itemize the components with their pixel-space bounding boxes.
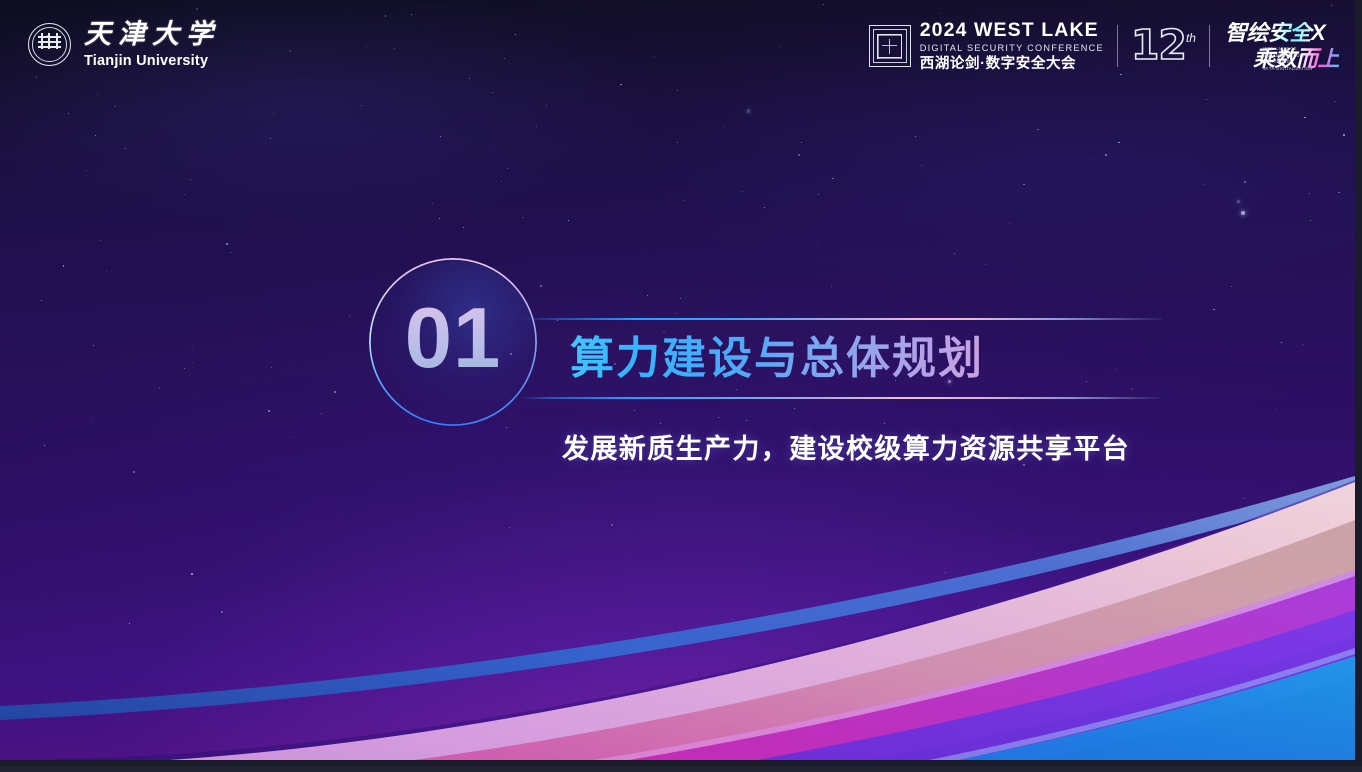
- slide-root: 天津大学 Tianjin University 2024 WEST LAKE D…: [0, 0, 1355, 760]
- section-number: 01: [369, 258, 537, 426]
- slide-bottom-border: [0, 766, 1362, 772]
- title-rule-bottom: [522, 397, 1162, 399]
- section-title: 算力建设与总体规划: [522, 320, 1162, 396]
- section-title-block: 算力建设与总体规划: [522, 318, 1162, 399]
- section-number-circle: 01: [369, 258, 537, 426]
- decorative-wave-band: [0, 460, 1355, 760]
